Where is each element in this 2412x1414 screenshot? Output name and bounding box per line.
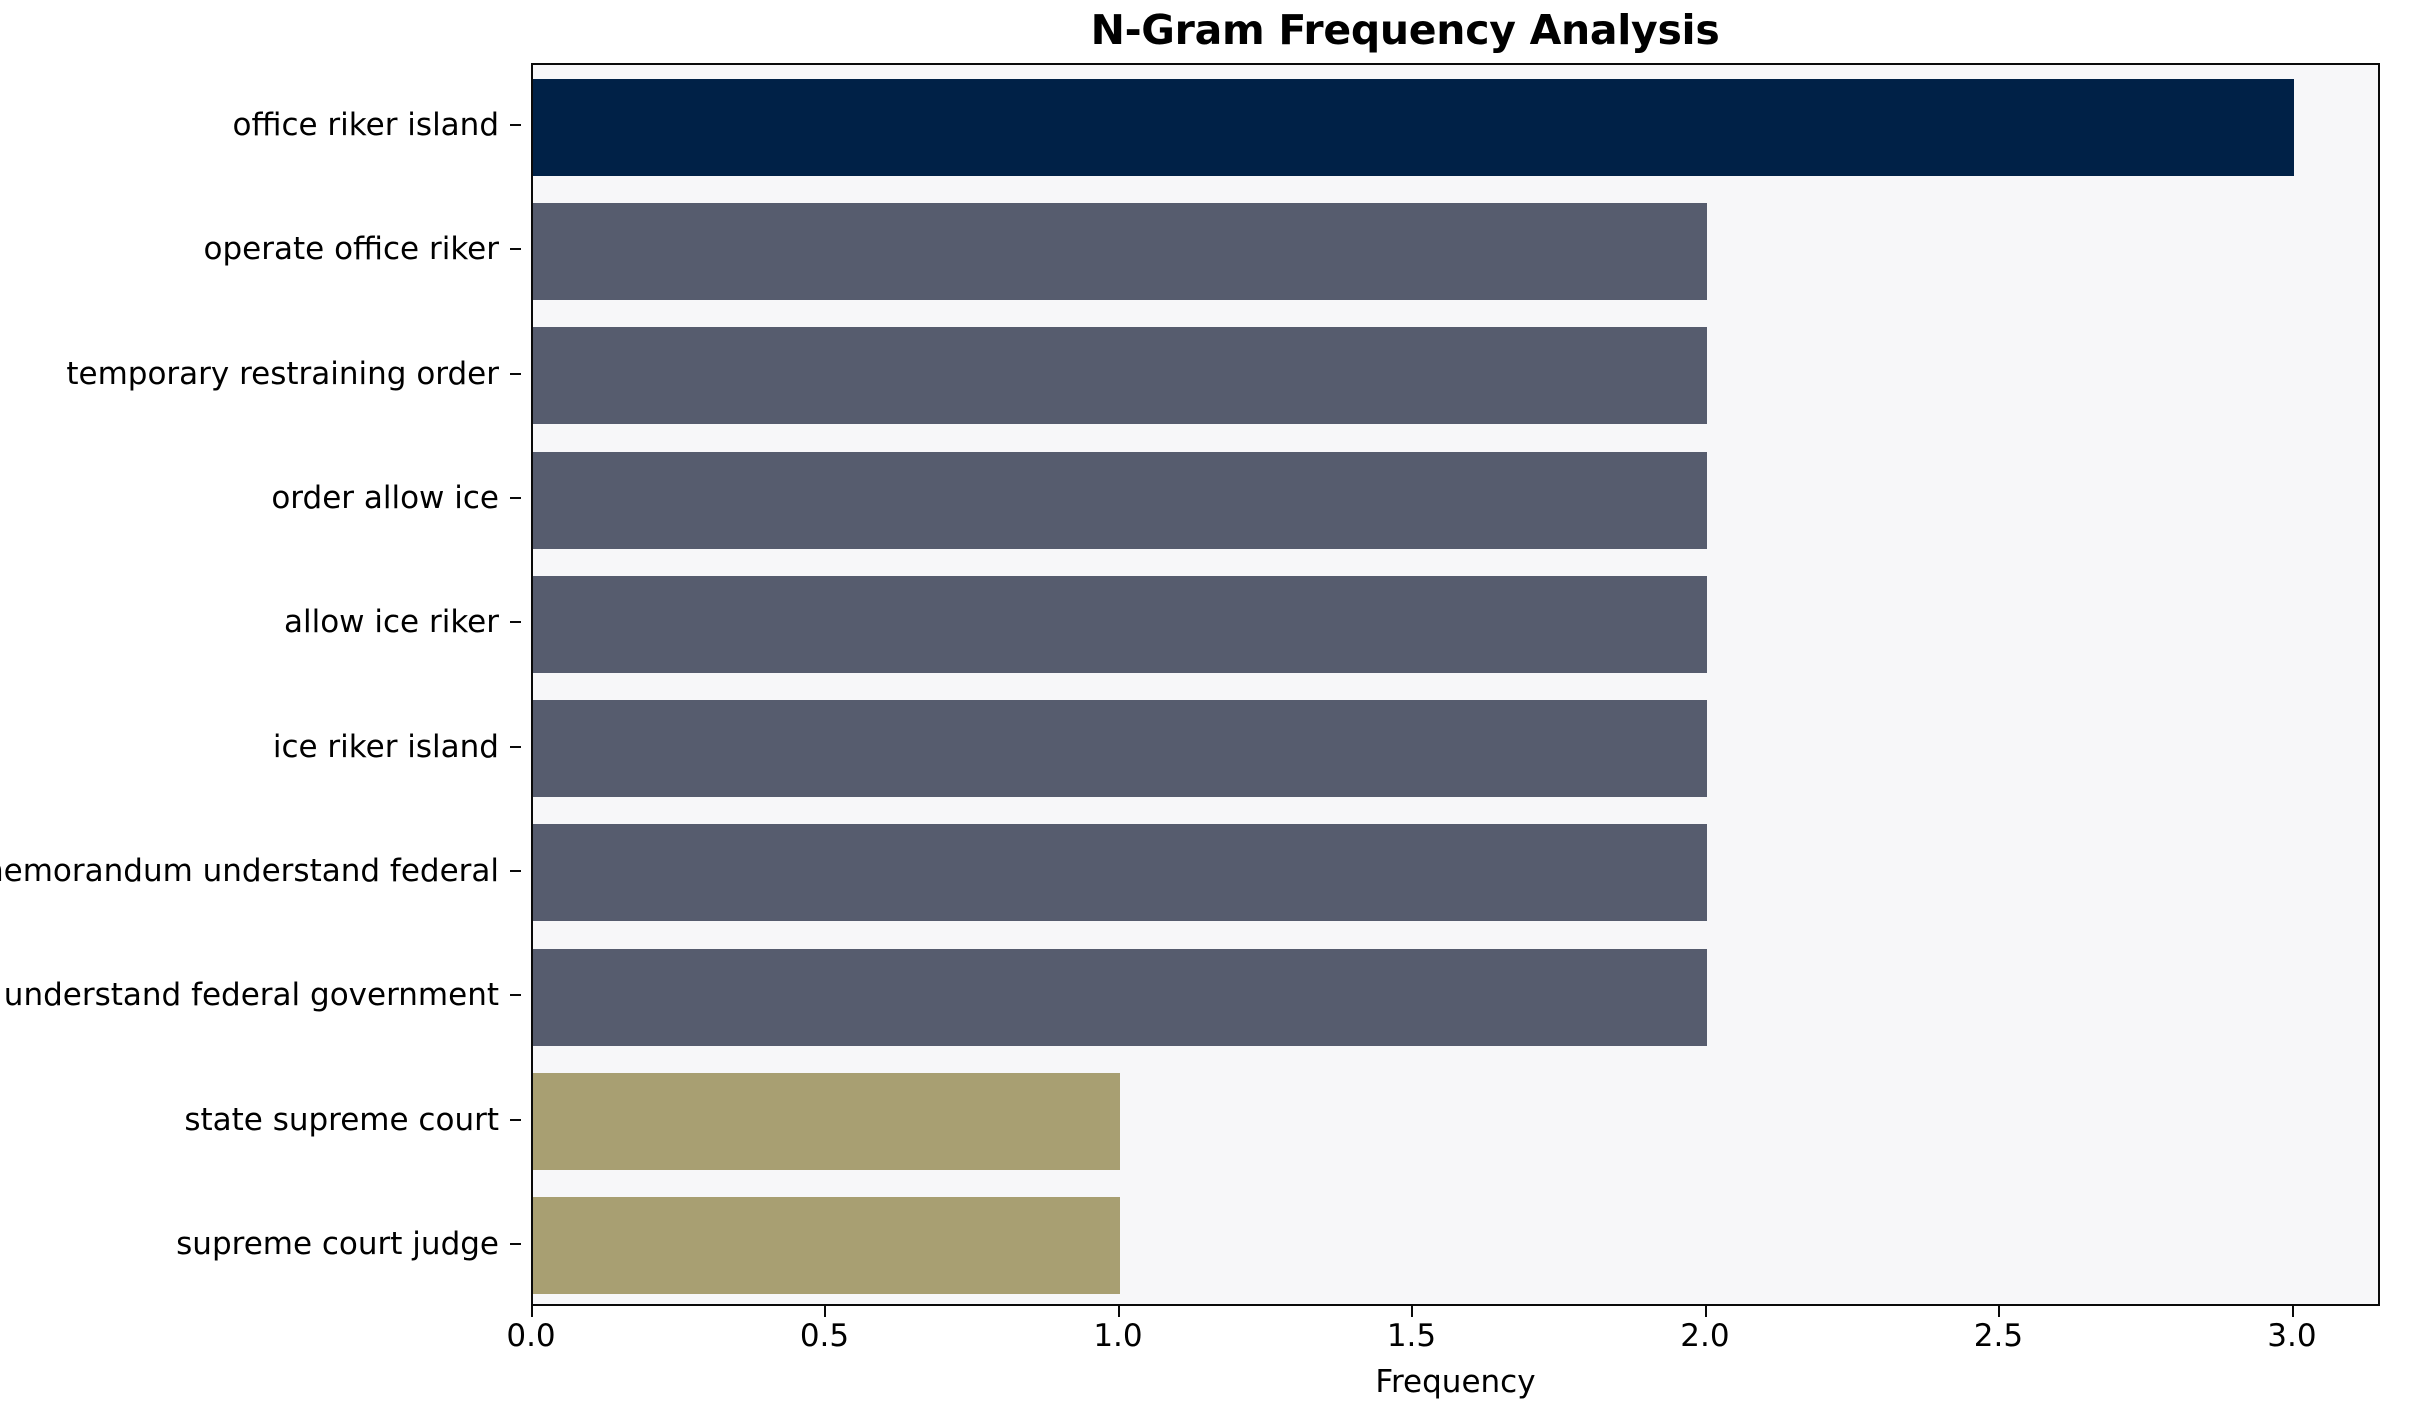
x-axis-tick-label: 3.0 bbox=[2267, 1318, 2316, 1354]
y-axis-tick-label: order allow ice bbox=[271, 480, 499, 516]
y-axis-tick-mark bbox=[510, 621, 521, 623]
y-axis-tick-mark bbox=[510, 870, 521, 872]
y-axis-tick-mark bbox=[510, 124, 521, 126]
bar bbox=[533, 327, 1707, 424]
x-axis-tick-label: 1.0 bbox=[1093, 1318, 1142, 1354]
x-axis-label: Frequency bbox=[531, 1364, 2380, 1400]
y-axis-tick-label: understand federal government bbox=[4, 977, 499, 1013]
x-axis-tick-label: 2.5 bbox=[1974, 1318, 2023, 1354]
bar bbox=[533, 824, 1707, 921]
bar bbox=[533, 203, 1707, 300]
y-axis-tick-label: office riker island bbox=[233, 107, 499, 143]
y-axis-tick-label: supreme court judge bbox=[176, 1226, 499, 1262]
x-axis-tick-mark bbox=[2292, 1306, 2294, 1317]
bar-series bbox=[533, 65, 2378, 1304]
y-axis-tick-label: state supreme court bbox=[184, 1102, 499, 1138]
x-axis-tick-label-group: 0.00.51.01.52.02.53.0 bbox=[531, 1318, 2380, 1364]
x-axis-tick-mark bbox=[1705, 1306, 1707, 1317]
y-axis-tick-label-group: office riker islandoperate office rikert… bbox=[0, 63, 521, 1306]
x-axis-tick-mark bbox=[824, 1306, 826, 1317]
plot-area bbox=[531, 63, 2380, 1306]
chart-figure: N-Gram Frequency Analysis office riker i… bbox=[0, 0, 2412, 1414]
y-axis-tick-mark bbox=[510, 248, 521, 250]
x-axis-tick-label: 0.5 bbox=[800, 1318, 849, 1354]
y-axis-tick-mark bbox=[510, 746, 521, 748]
y-axis-tick-label: ice riker island bbox=[273, 729, 499, 765]
x-axis-tick-mark-group bbox=[531, 1306, 2380, 1318]
y-axis-tick-mark bbox=[510, 994, 521, 996]
x-axis-tick-mark bbox=[1118, 1306, 1120, 1317]
bar bbox=[533, 79, 2294, 176]
x-axis-tick-mark bbox=[1998, 1306, 2000, 1317]
y-axis-tick-label: memorandum understand federal bbox=[0, 853, 499, 889]
y-axis-tick-mark bbox=[510, 497, 521, 499]
y-axis-tick-label: operate office riker bbox=[204, 231, 499, 267]
bar bbox=[533, 452, 1707, 549]
bar bbox=[533, 700, 1707, 797]
bar bbox=[533, 1197, 1120, 1294]
y-axis-tick-label: allow ice riker bbox=[284, 604, 499, 640]
bar bbox=[533, 949, 1707, 1046]
y-axis-tick-label: temporary restraining order bbox=[66, 356, 499, 392]
x-axis-tick-mark bbox=[1411, 1306, 1413, 1317]
bar bbox=[533, 576, 1707, 673]
y-axis-tick-mark bbox=[510, 1119, 521, 1121]
x-axis-tick-label: 0.0 bbox=[506, 1318, 555, 1354]
y-axis-tick-mark bbox=[510, 373, 521, 375]
x-axis-tick-label: 1.5 bbox=[1387, 1318, 1436, 1354]
x-axis-tick-mark bbox=[531, 1306, 533, 1317]
chart-title: N-Gram Frequency Analysis bbox=[530, 6, 2280, 54]
y-axis-tick-mark bbox=[510, 1243, 521, 1245]
x-axis-tick-label: 2.0 bbox=[1680, 1318, 1729, 1354]
bar bbox=[533, 1073, 1120, 1170]
